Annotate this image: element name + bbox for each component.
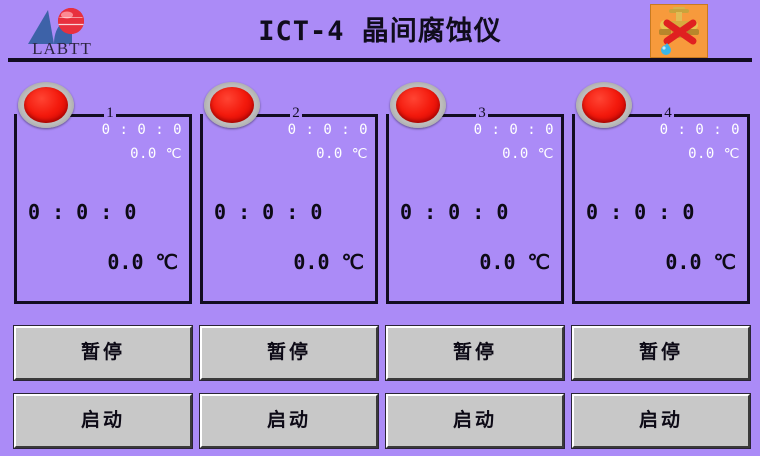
pause-button-channel-4[interactable]: 暂停 [572, 326, 750, 380]
header-divider [8, 58, 752, 62]
status-led[interactable] [18, 82, 74, 128]
current-time-value: 0 : 0 : 0 [586, 200, 736, 224]
status-led[interactable] [576, 82, 632, 128]
pause-button-channel-1[interactable]: 暂停 [14, 326, 192, 380]
channel-panel: 3 0 : 0 : 0 0.0 ℃ 0 : 0 : 0 0.0 ℃ [386, 82, 564, 304]
start-button-channel-3[interactable]: 启动 [386, 394, 564, 448]
current-time-value: 0 : 0 : 0 [28, 200, 178, 224]
pause-button-channel-3[interactable]: 暂停 [386, 326, 564, 380]
set-time-value: 0 : 0 : 0 [474, 122, 554, 138]
channel-panel: 4 0 : 0 : 0 0.0 ℃ 0 : 0 : 0 0.0 ℃ [572, 82, 750, 304]
set-time-value: 0 : 0 : 0 [288, 122, 368, 138]
pause-button-channel-2[interactable]: 暂停 [200, 326, 378, 380]
labtt-logo: LABTT [14, 4, 106, 58]
channel-panel: 2 0 : 0 : 0 0.0 ℃ 0 : 0 : 0 0.0 ℃ [200, 82, 378, 304]
status-led-lamp [210, 87, 254, 123]
current-time-value: 0 : 0 : 0 [214, 200, 364, 224]
set-time-value: 0 : 0 : 0 [102, 122, 182, 138]
set-time-value: 0 : 0 : 0 [660, 122, 740, 138]
current-temp-value: 0.0 ℃ [665, 250, 736, 274]
faucet-no-water-icon [650, 4, 708, 58]
status-led-lamp [396, 87, 440, 123]
status-led[interactable] [204, 82, 260, 128]
set-temp-value: 0.0 ℃ [688, 146, 740, 162]
set-temp-value: 0.0 ℃ [502, 146, 554, 162]
page-title: ICT-4 晶间腐蚀仪 [120, 10, 640, 54]
current-temp-value: 0.0 ℃ [479, 250, 550, 274]
current-temp-value: 0.0 ℃ [293, 250, 364, 274]
start-button-channel-2[interactable]: 启动 [200, 394, 378, 448]
logo-wordmark: LABTT [20, 40, 104, 57]
current-temp-value: 0.0 ℃ [107, 250, 178, 274]
status-led[interactable] [390, 82, 446, 128]
status-led-lamp [24, 87, 68, 123]
current-time-value: 0 : 0 : 0 [400, 200, 550, 224]
app-header: LABTT ICT-4 晶间腐蚀仪 [0, 0, 760, 62]
set-temp-value: 0.0 ℃ [316, 146, 368, 162]
set-temp-value: 0.0 ℃ [130, 146, 182, 162]
channel-panel: 1 0 : 0 : 0 0.0 ℃ 0 : 0 : 0 0.0 ℃ [14, 82, 192, 304]
start-button-channel-4[interactable]: 启动 [572, 394, 750, 448]
start-button-channel-1[interactable]: 启动 [14, 394, 192, 448]
status-led-lamp [582, 87, 626, 123]
